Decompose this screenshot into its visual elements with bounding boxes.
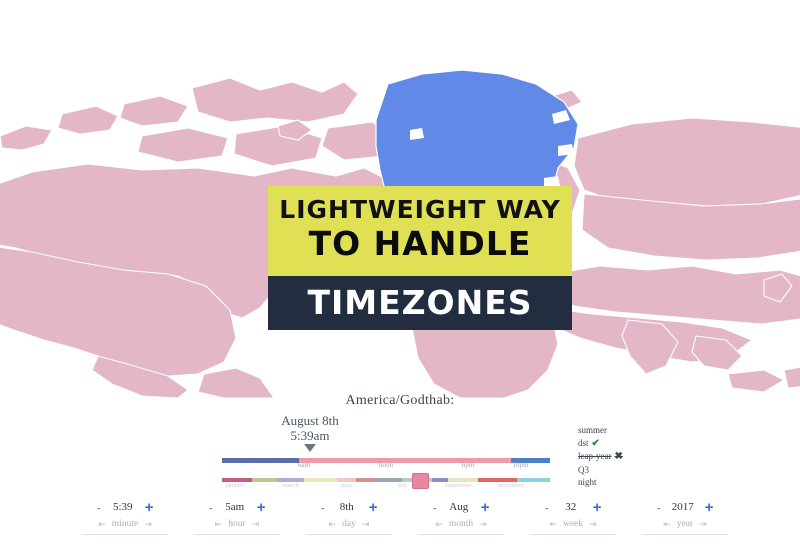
stepper-week: -32+⇤week⇥ [518,498,628,535]
status-flag-label: night [578,477,597,487]
plus-icon[interactable]: + [593,500,602,515]
status-flag: summer [578,424,623,437]
year-slider-tick-label: september [445,482,472,489]
plus-icon[interactable]: + [481,500,490,515]
plus-icon[interactable]: + [369,500,378,515]
title-line-1: LIGHTWEIGHT WAY [268,195,572,224]
year-slider-ticks: januarymarchmayjulyseptembernovember [222,482,550,494]
stepper-month: -Aug+⇤month⇥ [406,498,516,535]
year-slider-tick-label: november [498,482,524,489]
stepper-value: 5:39 [110,501,136,513]
title-banner-secondary: TIMEZONES [268,276,572,330]
timezone-label: America/Godthab: [0,393,800,409]
arrow-left-icon[interactable]: ⇤ [663,520,671,529]
status-flag: Q3 [578,464,623,477]
stepper-unit-label: month [449,519,473,529]
day-slider-tick-label: 6am [298,461,310,469]
stepper-value: 5am [222,501,248,513]
stepper-value-row: -8th+ [294,498,404,516]
minus-icon[interactable]: - [432,501,436,514]
day-slider-tick-label: 10pm [512,461,528,469]
stepper-unit-row: ⇤minute⇥ [82,516,168,535]
stepper-value-row: -5am+ [182,498,292,516]
status-flag: dst✔ [578,437,623,451]
minus-icon[interactable]: - [96,501,100,514]
stepper-unit-row: ⇤hour⇥ [194,516,280,535]
title-line-3: TIMEZONES [268,283,572,323]
check-icon: ✔ [592,438,600,449]
year-slider-tick-label: july [397,482,407,489]
minus-icon[interactable]: - [544,501,548,514]
stepper-value-row: -32+ [518,498,628,516]
stepper-row: -5:39+⇤minute⇥-5am+⇤hour⇥-8th+⇤day⇥-Aug+… [0,498,800,538]
plus-icon[interactable]: + [705,500,714,515]
arrow-right-icon[interactable]: ⇥ [144,520,152,529]
status-flag: leap-year✖ [578,450,623,464]
arrow-left-icon[interactable]: ⇤ [329,520,337,529]
status-flag-label: dst [578,438,589,448]
stepper-value: 2017 [670,501,696,513]
status-flag: night [578,476,623,489]
minus-icon[interactable]: - [656,501,660,514]
status-flag-label: summer [578,425,607,435]
stepper-value: 32 [558,501,584,513]
status-flag-list: summerdst✔leap-year✖Q3night [578,424,623,489]
arrow-right-icon[interactable]: ⇥ [362,520,370,529]
day-slider-tick-label: 6pm [462,461,474,469]
arrow-right-icon[interactable]: ⇥ [479,520,487,529]
arrow-left-icon[interactable]: ⇤ [215,520,223,529]
year-slider-tick-label: january [225,482,245,489]
stepper-value-row: -Aug+ [406,498,516,516]
plus-icon[interactable]: + [145,500,154,515]
stepper-unit-row: ⇤day⇥ [306,516,392,535]
year-slider-tick-label: march [283,482,299,489]
title-line-2: TO HANDLE [268,224,572,264]
tooltip-time: 5:39am [250,428,370,443]
stepper-value-row: -2017+ [630,498,740,516]
stepper-hour: -5am+⇤hour⇥ [182,498,292,535]
stepper-minute: -5:39+⇤minute⇥ [70,498,180,535]
status-flag-label: leap-year [578,451,611,461]
stepper-unit-label: day [342,519,356,529]
arrow-right-icon[interactable]: ⇥ [589,520,597,529]
title-banner-primary: LIGHTWEIGHT WAY TO HANDLE [268,186,572,276]
cross-icon: ✖ [614,451,622,462]
stepper-value: 8th [334,501,360,513]
arrow-right-icon[interactable]: ⇥ [699,520,707,529]
minus-icon[interactable]: - [208,501,212,514]
day-slider-tick-label: noon [379,461,393,469]
arrow-left-icon[interactable]: ⇤ [98,520,106,529]
arrow-right-icon[interactable]: ⇥ [252,520,260,529]
stepper-value-row: -5:39+ [70,498,180,516]
plus-icon[interactable]: + [257,500,266,515]
status-flag-label: Q3 [578,465,589,475]
stepper-unit-row: ⇤week⇥ [530,516,616,535]
down-triangle-icon [304,444,316,452]
minus-icon[interactable]: - [320,501,324,514]
arrow-left-icon[interactable]: ⇤ [549,520,557,529]
stepper-unit-label: hour [228,519,245,529]
stepper-unit-label: year [677,519,693,529]
stepper-unit-row: ⇤year⇥ [642,516,728,535]
poster-canvas: LIGHTWEIGHT WAY TO HANDLE TIMEZONES Amer… [0,0,800,560]
arrow-left-icon[interactable]: ⇤ [435,520,443,529]
stepper-value: Aug [446,501,472,513]
stepper-day: -8th+⇤day⇥ [294,498,404,535]
time-tooltip: August 8th 5:39am [250,413,370,452]
tooltip-date: August 8th [250,413,370,428]
year-slider-tick-label: may [341,482,352,489]
stepper-unit-label: week [563,519,583,529]
stepper-year: -2017+⇤year⇥ [630,498,740,535]
day-slider-ticks: 6amnoon6pm10pm [222,461,550,473]
stepper-unit-label: minute [112,519,138,529]
stepper-unit-row: ⇤month⇥ [418,516,504,535]
